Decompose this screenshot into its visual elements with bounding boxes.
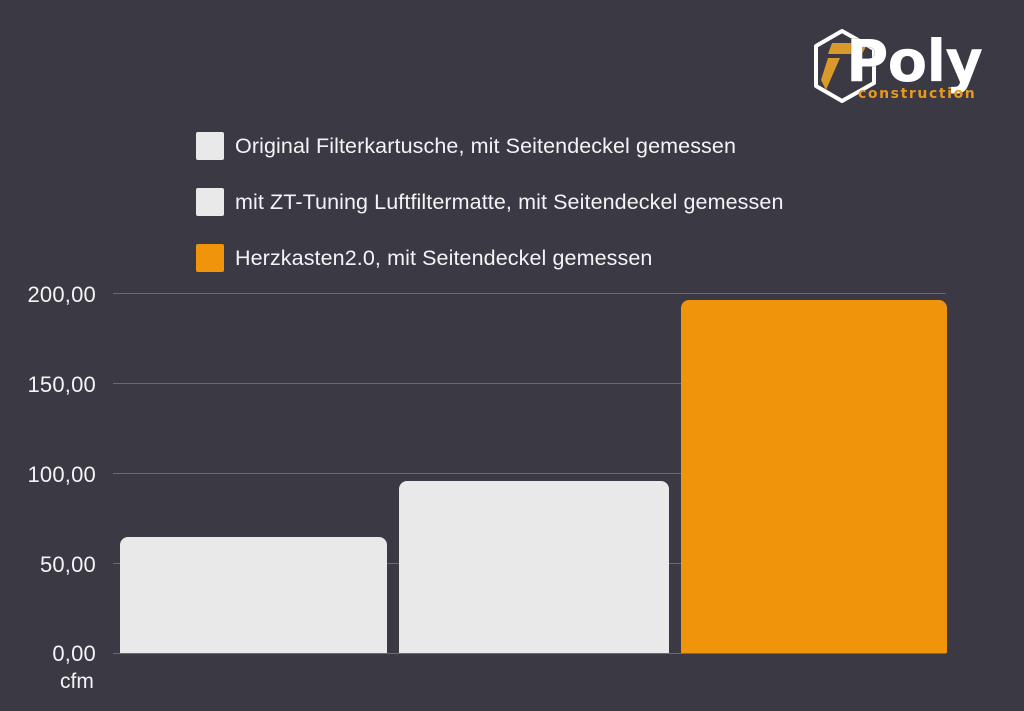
y-axis-unit-label: cfm [60,670,94,694]
gridline-200 [113,293,946,294]
y-axis-tick-label: 150,00 [0,372,96,398]
y-axis-tick-label: 0,00 [0,641,96,667]
bar-herzkasten-2-0[interactable] [681,300,947,653]
axis-baseline [113,653,946,654]
bar-zt-tuning-luftfiltermatte[interactable] [399,481,669,653]
bar-chart: 200,00 150,00 100,00 50,00 0,00 cfm [0,0,1024,711]
bar-original-filterkartusche[interactable] [120,537,387,653]
y-axis-tick-label: 200,00 [0,282,96,308]
y-axis-tick-label: 50,00 [0,552,96,578]
y-axis-tick-label: 100,00 [0,462,96,488]
